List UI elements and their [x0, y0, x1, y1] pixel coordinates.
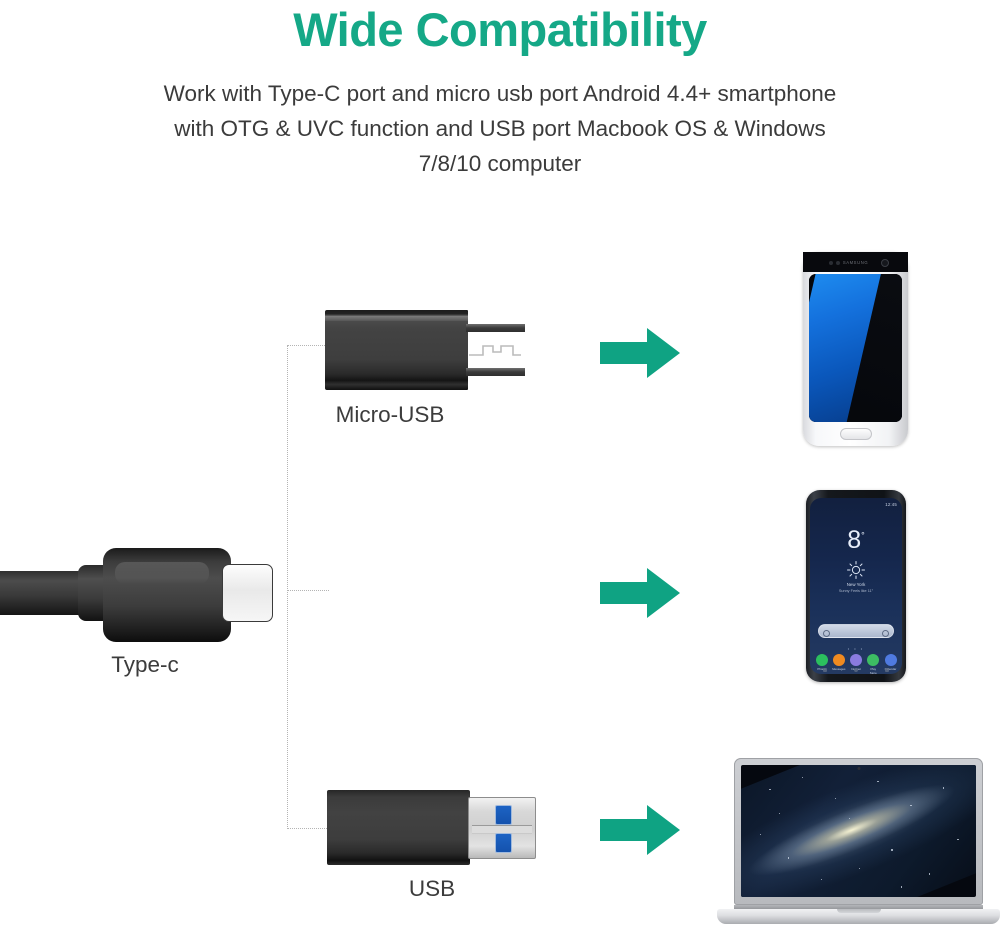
device-smartphone-dark: 12:45 8° [806, 490, 906, 682]
usb-a-metal-shell [468, 797, 536, 859]
page-title: Wide Compatibility [0, 2, 1000, 57]
phone-s8-nav-bar [810, 665, 902, 674]
phone-s8-search-bar[interactable] [818, 624, 894, 638]
micro-usb-label: Micro-USB [290, 402, 490, 428]
micro-usb-tip-bar-top [466, 324, 525, 332]
usb-3-blue-block-top [495, 805, 512, 825]
nav-recents-icon[interactable] [823, 668, 827, 672]
laptop-lid-notch [837, 909, 881, 913]
micro-usb-body [325, 310, 468, 390]
phone-s8-weather-detail: Sunny Feels like 11° [810, 589, 902, 593]
usb-a-connector: USB [327, 790, 557, 865]
laptop-wallpaper-stars [741, 765, 976, 897]
infographic-canvas: Wide Compatibility Work with Type-C port… [0, 0, 1000, 933]
type-c-connector: Type-c [0, 540, 280, 645]
connector-line-to-usb [287, 828, 327, 829]
device-laptop [717, 758, 1000, 930]
arrow-right-icon-2 [600, 568, 680, 618]
micro-usb-tip [466, 324, 525, 376]
usb-a-body [327, 790, 470, 865]
nav-home-icon[interactable] [854, 668, 858, 672]
phone-s8-weather-location: New York [810, 582, 902, 587]
phone-s7-home-button[interactable] [840, 428, 872, 440]
connector-line-to-micro-usb [287, 345, 327, 346]
phone-s8-page-indicator: • • • [810, 646, 902, 651]
type-c-label: Type-c [10, 652, 280, 678]
phone-s8-screen: 12:45 8° [810, 498, 902, 674]
micro-usb-tip-notch [469, 343, 521, 356]
micro-usb-connector: Micro-USB [325, 310, 525, 390]
phone-s7-wallpaper [809, 274, 902, 422]
usb-3-blue-block-bottom [495, 833, 512, 853]
phone-s8-status-bar: 12:45 [885, 502, 897, 507]
laptop-screen [741, 765, 976, 897]
type-c-tip [222, 564, 273, 622]
laptop-lid [734, 758, 983, 905]
phone-s7-brand-label: SAMSUNG [803, 260, 908, 265]
device-smartphone-white: SAMSUNG [803, 252, 908, 446]
arrow-right-icon-3 [600, 805, 680, 855]
page-subtitle: Work with Type-C port and micro usb port… [150, 76, 850, 181]
phone-s8-temperature: 8° [810, 528, 902, 553]
type-c-body [103, 548, 231, 642]
phone-s7-front-camera-icon [881, 259, 889, 267]
phone-s8-degree-symbol: ° [861, 531, 865, 541]
connector-line-vertical [287, 345, 288, 829]
phone-s8-temperature-value: 8 [847, 526, 861, 554]
phone-s7-screen [809, 274, 902, 422]
connector-line-to-type-c [287, 590, 329, 591]
usb-a-label: USB [317, 876, 547, 902]
micro-usb-tip-bar-bottom [466, 368, 525, 376]
arrow-right-icon-1 [600, 328, 680, 378]
laptop-webcam-icon [857, 767, 860, 770]
nav-back-icon[interactable] [885, 668, 889, 672]
